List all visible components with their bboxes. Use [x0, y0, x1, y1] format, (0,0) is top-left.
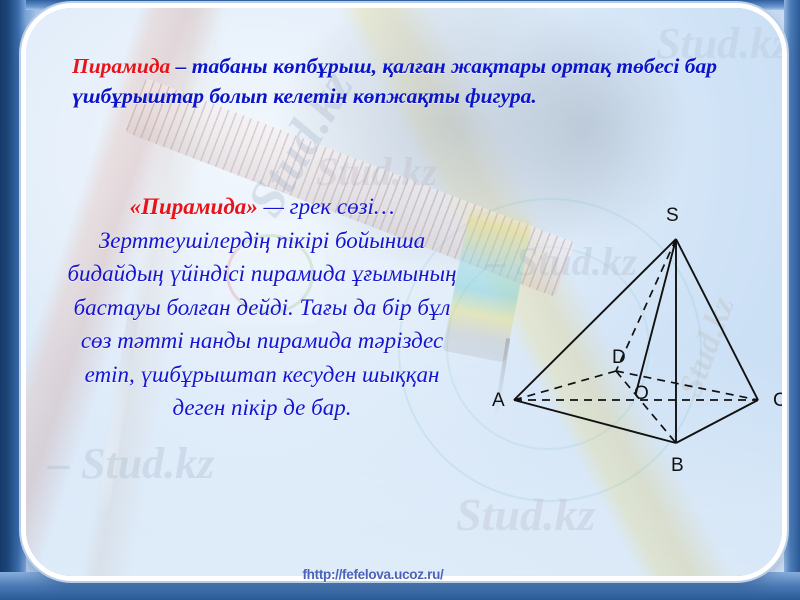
definition-term: Пирамида — [72, 54, 170, 78]
pyramid-label-b: B — [671, 455, 684, 476]
source-url[interactable]: fhttp://fefelova.ucoz.ru/ — [0, 567, 800, 582]
etymology-term: «Пирамида» — [130, 194, 258, 219]
pyramid-label-a: A — [492, 390, 505, 411]
pyramid-vertex-labels: SABCDO — [492, 205, 782, 476]
pyramid-edge-BC — [676, 400, 758, 443]
pyramid-edge-SC — [676, 239, 758, 400]
etymology-paragraph: «Пирамида» — грек сөзі… Зерттеушілердің … — [64, 190, 460, 425]
pyramid-label-s: S — [666, 205, 679, 226]
pyramid-label-o: O — [634, 383, 649, 404]
pyramid-diagram: SABCDO — [466, 188, 782, 488]
frame-right-band — [784, 0, 800, 600]
pyramid-edge-SA — [514, 239, 676, 400]
definition-title: Пирамида – табаны көпбұрыш, қалған жақта… — [72, 52, 742, 111]
pyramid-edge-DB — [616, 371, 676, 443]
pyramid-hidden-edges — [514, 239, 758, 443]
frame-left-band — [0, 0, 26, 600]
etymology-body: — грек сөзі… Зерттеушілердің пікірі бойы… — [67, 194, 456, 420]
pyramid-solid-edges — [514, 239, 758, 443]
pyramid-label-c: C — [773, 390, 782, 411]
content-panel: Stud.kz Stud.kz – Stud.kz – Stud.kz Stud… — [26, 8, 782, 576]
slide-canvas: Stud.kz Stud.kz – Stud.kz – Stud.kz Stud… — [0, 0, 800, 600]
pyramid-label-d: D — [612, 347, 626, 368]
pyramid-edge-SO — [636, 239, 676, 393]
pyramid-edge-AB — [514, 400, 676, 443]
